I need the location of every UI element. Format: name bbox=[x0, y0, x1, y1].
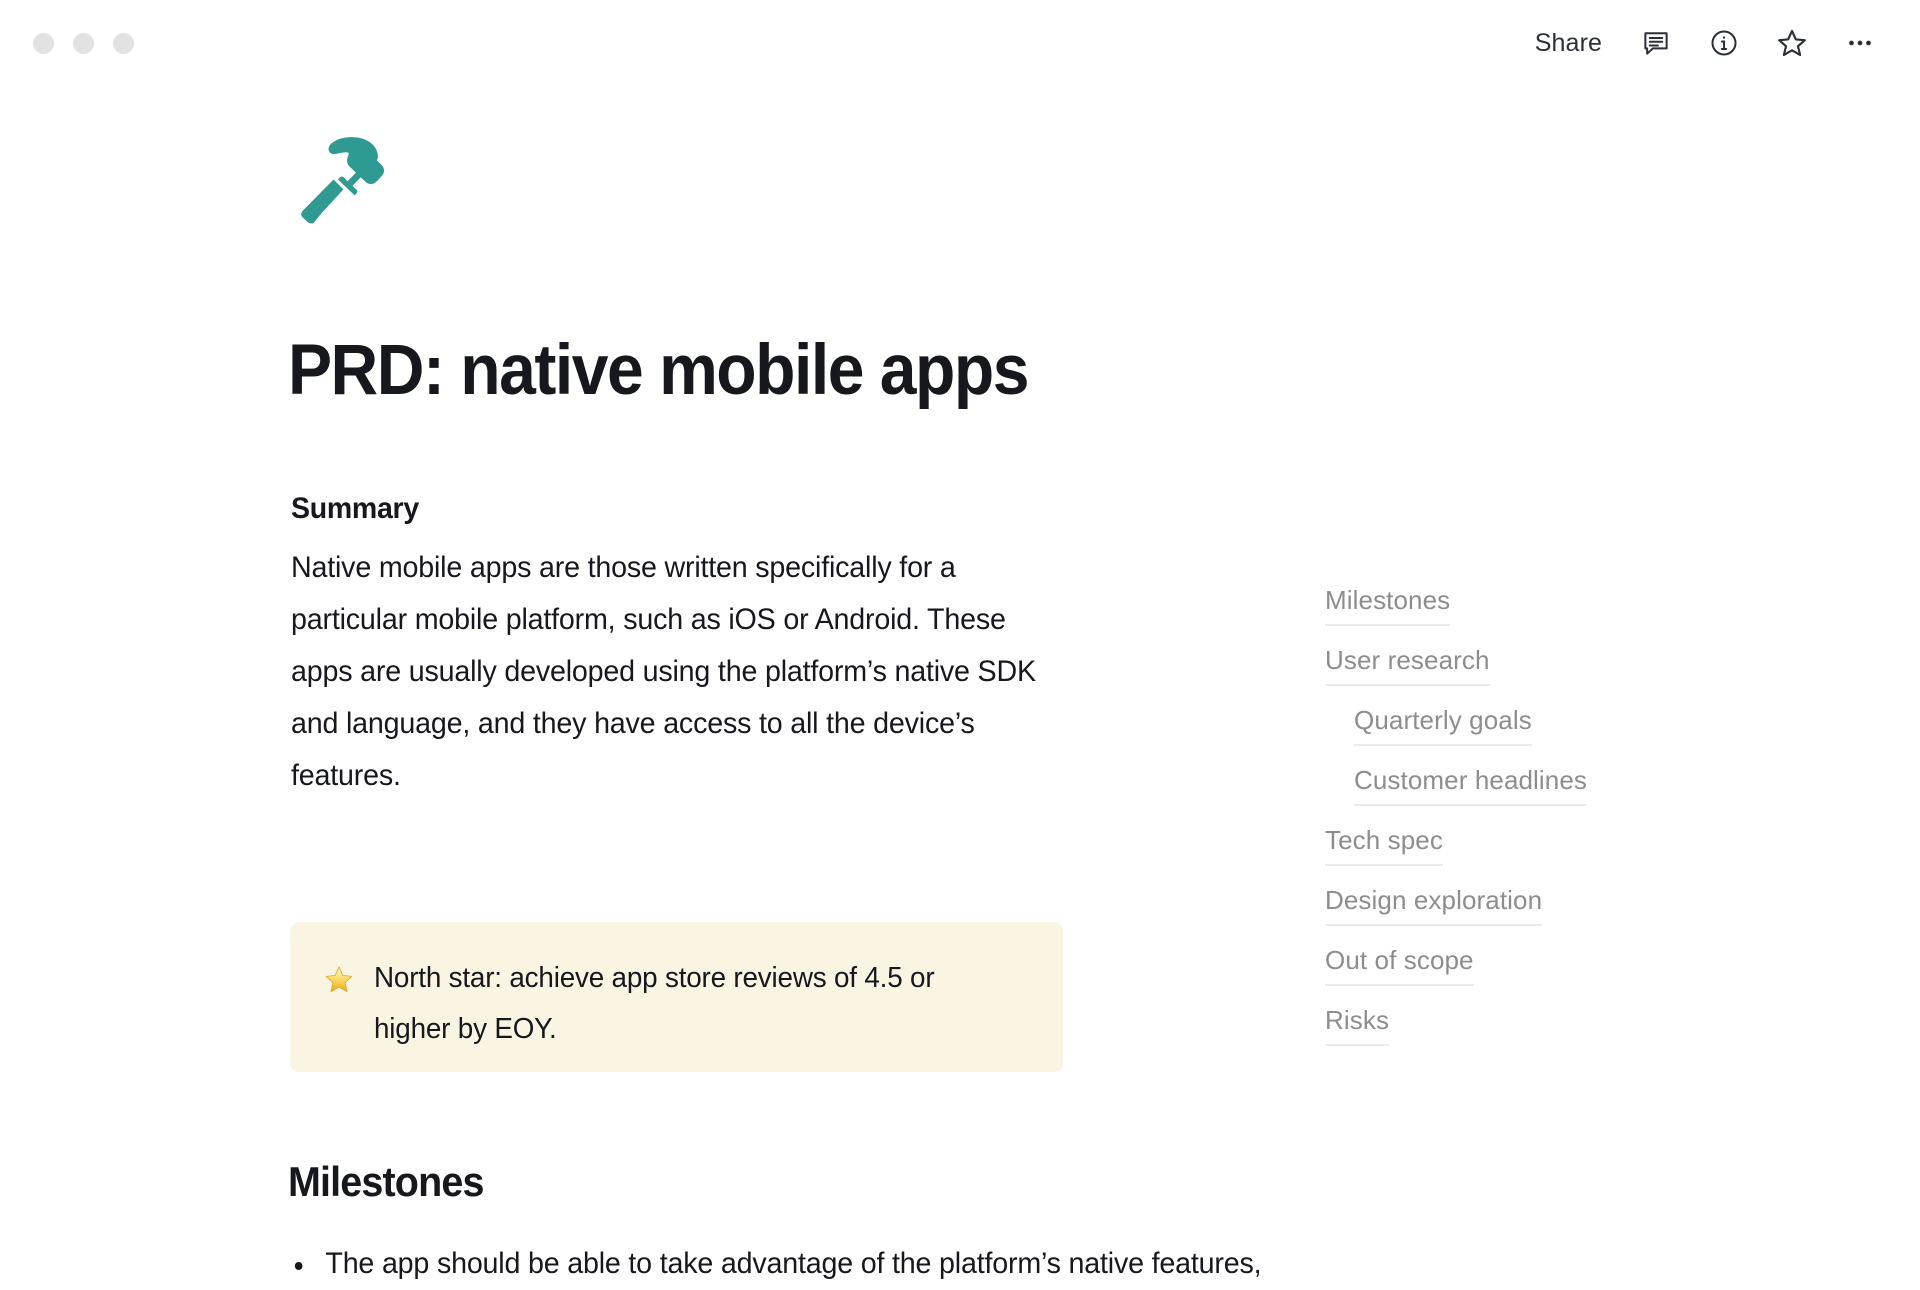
star-icon[interactable] bbox=[1772, 23, 1812, 63]
north-star-callout: North star: achieve app store reviews of… bbox=[290, 922, 1063, 1072]
document-page: PRD: native mobile apps Summary Native m… bbox=[0, 86, 1920, 1200]
maximize-window-button[interactable] bbox=[113, 33, 134, 54]
toc-item-design-exploration[interactable]: Design exploration bbox=[1325, 883, 1542, 926]
info-icon[interactable] bbox=[1704, 23, 1744, 63]
hammer-icon[interactable] bbox=[291, 129, 387, 225]
toc-item-quarterly-goals[interactable]: Quarterly goals bbox=[1354, 703, 1532, 746]
toc-item-customer-headlines[interactable]: Customer headlines bbox=[1354, 763, 1587, 806]
milestones-list: The app should be able to take advantage… bbox=[291, 1238, 1591, 1290]
page-title: PRD: native mobile apps bbox=[288, 330, 1028, 412]
more-icon[interactable] bbox=[1840, 23, 1880, 63]
minimize-window-button[interactable] bbox=[73, 33, 94, 54]
star-emoji-icon bbox=[324, 953, 364, 994]
comment-icon[interactable] bbox=[1636, 23, 1676, 63]
toc-item-out-of-scope[interactable]: Out of scope bbox=[1325, 943, 1474, 986]
window-titlebar: Share bbox=[0, 0, 1920, 86]
close-window-button[interactable] bbox=[33, 33, 54, 54]
toc-item-user-research[interactable]: User research bbox=[1325, 643, 1490, 686]
milestones-heading: Milestones bbox=[288, 1156, 484, 1208]
toc-item-risks[interactable]: Risks bbox=[1325, 1003, 1389, 1046]
summary-paragraph: Native mobile apps are those written spe… bbox=[291, 542, 1055, 802]
share-button[interactable]: Share bbox=[1529, 25, 1608, 62]
callout-text: North star: achieve app store reviews of… bbox=[374, 953, 1007, 1055]
toolbar-actions: Share bbox=[1529, 23, 1880, 63]
table-of-contents: Milestones User research Quarterly goals… bbox=[1325, 583, 1705, 1063]
toc-item-tech-spec[interactable]: Tech spec bbox=[1325, 823, 1443, 866]
summary-heading: Summary bbox=[291, 490, 1042, 528]
summary-section: Summary Native mobile apps are those wri… bbox=[291, 490, 1081, 802]
window-controls bbox=[33, 33, 134, 54]
toc-item-milestones[interactable]: Milestones bbox=[1325, 583, 1450, 626]
list-item: The app should be able to take advantage… bbox=[291, 1238, 1533, 1290]
